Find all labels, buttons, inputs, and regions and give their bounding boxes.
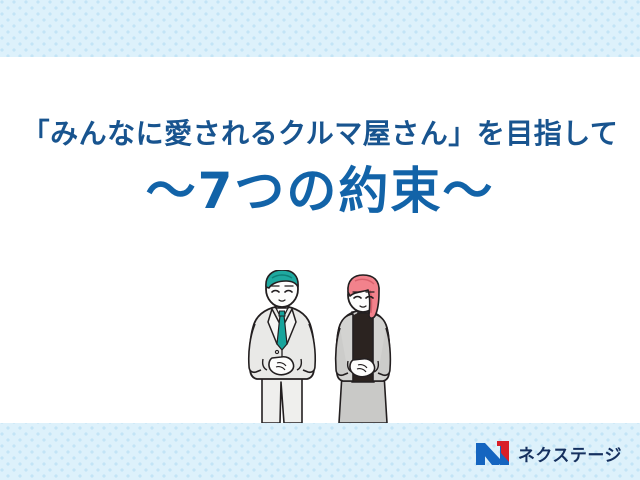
- male-tie-knot: [279, 311, 285, 316]
- headline-block: 「みんなに愛されるクルマ屋さん」を目指して 〜7つの約束〜: [0, 117, 640, 220]
- brand-logo: ネクステージ: [475, 440, 622, 466]
- slide-canvas: 「みんなに愛されるクルマ屋さん」を目指して 〜7つの約束〜: [0, 0, 640, 480]
- female-hands: [350, 359, 375, 377]
- staff-illustration: [236, 270, 416, 423]
- male-staff-figure: [249, 270, 316, 423]
- headline-line-1: 「みんなに愛されるクルマ屋さん」を目指して: [0, 117, 640, 151]
- female-staff-figure: [336, 275, 391, 423]
- headline-line-2: 〜7つの約束〜: [0, 163, 640, 221]
- male-trousers: [262, 374, 302, 423]
- white-content-panel: 「みんなに愛されるクルマ屋さん」を目指して 〜7つの約束〜: [0, 57, 640, 423]
- brand-logo-text: ネクステージ: [518, 441, 622, 466]
- male-hands: [269, 357, 294, 375]
- nextage-n-mark-icon: [475, 440, 511, 466]
